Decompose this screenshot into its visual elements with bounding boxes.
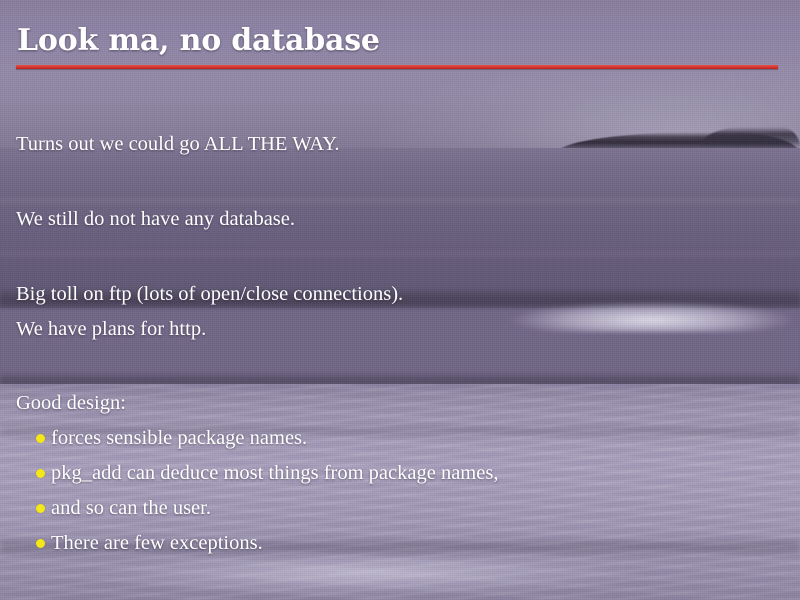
list-item: pkg_add can deduce most things from pack… — [36, 460, 498, 486]
list-item: and so can the user. — [36, 495, 211, 521]
list-item: There are few exceptions. — [36, 530, 263, 556]
body-line-4: We have plans for http. — [16, 316, 206, 342]
list-item-label: and so can the user. — [51, 495, 211, 521]
bullet-dot-icon — [36, 539, 45, 548]
list-item: forces sensible package names. — [36, 425, 307, 451]
list-item-label: pkg_add can deduce most things from pack… — [51, 460, 498, 486]
bullet-dot-icon — [36, 469, 45, 478]
title-underline-rule — [16, 65, 778, 69]
slide-title: Look ma, no database — [17, 23, 380, 59]
list-item-label: forces sensible package names. — [51, 425, 307, 451]
presentation-slide: Look ma, no database Turns out we could … — [0, 0, 800, 600]
bullet-dot-icon — [36, 434, 45, 443]
bullet-dot-icon — [36, 504, 45, 513]
body-line-2: We still do not have any database. — [16, 206, 295, 232]
body-line-3: Big toll on ftp (lots of open/close conn… — [16, 281, 403, 307]
body-line-good-design: Good design: — [16, 390, 126, 416]
list-item-label: There are few exceptions. — [51, 530, 263, 556]
body-line-1: Turns out we could go ALL THE WAY. — [16, 131, 339, 157]
slide-content: Look ma, no database Turns out we could … — [0, 0, 800, 600]
